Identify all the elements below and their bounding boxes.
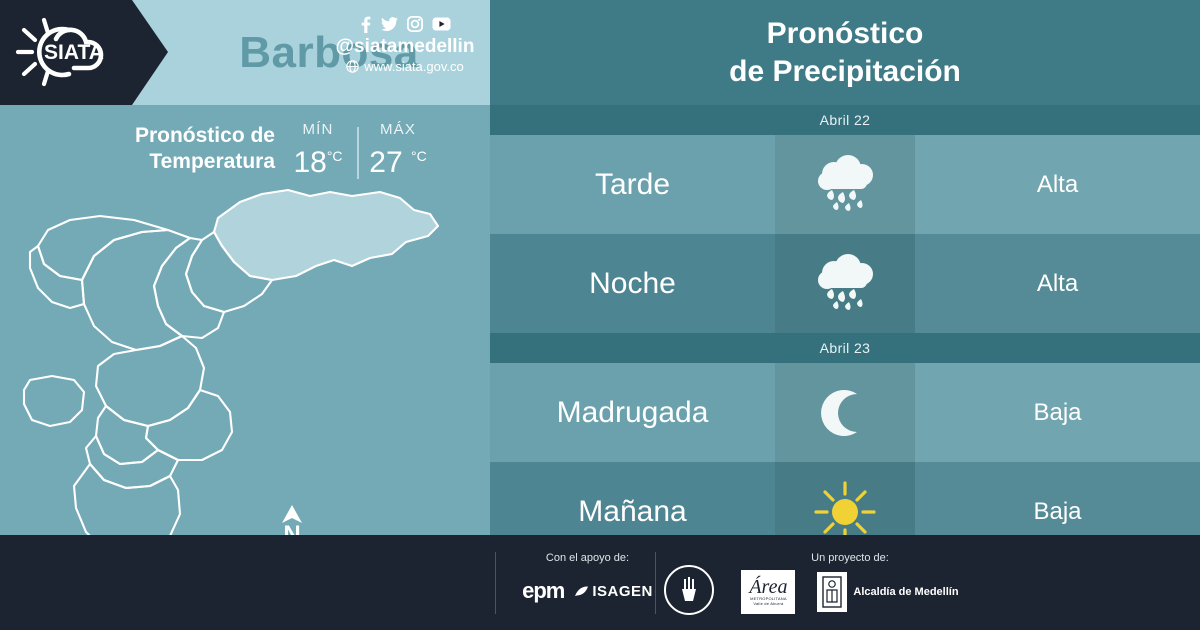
date-band-2: Abril 23: [490, 333, 1200, 363]
social-handle[interactable]: @siatamedellin: [330, 36, 480, 58]
project-caption: Un proyecto de:: [700, 552, 1000, 564]
temperature-min-value: 18: [293, 146, 326, 179]
area-logo-name: Área: [749, 579, 787, 596]
forecast-row: Madrugada Baja: [490, 363, 1200, 462]
precipitation-title-line2: de Precipitación: [729, 55, 961, 88]
aburra-valley-map: N: [0, 180, 490, 535]
map-region-barbosa: [214, 190, 438, 280]
support-caption: Con el apoyo de:: [505, 552, 670, 564]
temperature-min-unit: °C: [327, 148, 343, 164]
forecast-icon-cell: [775, 234, 915, 333]
alcaldia-logo: Alcaldía de Medellín: [817, 572, 958, 612]
right-panel: Pronóstico de Precipitación Abril 22 Tar…: [490, 0, 1200, 535]
area-metropolitana-logo: Área METROPOLITANA Valle de Aburrá: [741, 570, 795, 614]
map-region-west-edge-lower: [24, 376, 84, 426]
weather-forecast-infographic: SIATA Barbosa Pronóstico de Temperatura …: [0, 0, 1200, 630]
date-band-1: Abril 22: [490, 105, 1200, 135]
alcaldia-crest-glyph: [822, 576, 842, 608]
rain-cloud-icon: [810, 154, 880, 216]
temperature-max: MÁX 27 °C: [363, 121, 433, 180]
temperature-max-value: 27: [369, 146, 402, 179]
support-logos: epm ISAGEN: [505, 578, 670, 604]
siata-logo-text: SIATA: [44, 41, 104, 64]
map-region-sabaneta: [86, 436, 178, 488]
rain-cloud-icon: [810, 253, 880, 315]
forecast-probability: Baja: [915, 363, 1200, 462]
isagen-logo: ISAGEN: [574, 583, 653, 600]
support-block: Con el apoyo de: epm ISAGEN: [505, 552, 670, 604]
footer-social-block: @siatamedellin www.siata.gov.co: [330, 14, 480, 74]
temperature-title: Pronóstico de Temperatura: [85, 123, 275, 175]
forecast-period: Tarde: [490, 135, 775, 234]
footer-divider-1: [495, 552, 496, 614]
footer-divider-2: [655, 552, 656, 614]
precipitation-title-line1: Pronóstico: [767, 17, 924, 50]
map-region-medellin: [96, 336, 204, 426]
forecast-row: Tarde: [490, 135, 1200, 234]
forecast-probability: Alta: [915, 234, 1200, 333]
forecast-probability: Alta: [915, 135, 1200, 234]
temperature-max-unit: °C: [411, 148, 427, 164]
isagen-wordmark: ISAGEN: [592, 583, 653, 600]
temperature-min: MÍN 18°C: [283, 121, 353, 180]
map-region-bello: [82, 230, 190, 350]
facebook-icon[interactable]: [359, 16, 372, 33]
map-region-northwest: [38, 216, 168, 280]
moon-icon: [814, 382, 876, 444]
instagram-icon[interactable]: [407, 16, 423, 32]
social-icons: [330, 14, 480, 34]
forecast-row: Noche: [490, 234, 1200, 333]
precipitation-title: Pronóstico de Precipitación: [490, 0, 1200, 105]
map-region-caldas: [74, 464, 180, 535]
area-logo-sub2: Valle de Aburrá: [753, 601, 783, 606]
siata-sun-cloud-logo-icon: SIATA: [14, 16, 132, 88]
map-region-west-edge-upper: [30, 246, 84, 308]
project-block: Un proyecto de: Área METROPOLITANA Valle…: [700, 552, 1000, 614]
temperature-values: MÍN 18°C MÁX 27 °C: [283, 121, 433, 180]
temperature-min-value-group: 18°C: [293, 139, 342, 180]
youtube-icon[interactable]: [432, 17, 451, 31]
website-url[interactable]: www.siata.gov.co: [364, 59, 463, 74]
alcaldia-label: Alcaldía de Medellín: [853, 586, 958, 598]
temperature-title-line2: Temperatura: [149, 150, 275, 173]
website-line[interactable]: www.siata.gov.co: [330, 59, 480, 74]
temperature-min-label: MÍN: [302, 121, 333, 138]
temperature-max-label: MÁX: [380, 121, 416, 138]
map-svg: [0, 180, 490, 535]
project-logos: Área METROPOLITANA Valle de Aburrá Alcal…: [700, 570, 1000, 614]
globe-icon: [346, 60, 359, 73]
forecast-period: Noche: [490, 234, 775, 333]
forecast-period: Madrugada: [490, 363, 775, 462]
left-panel: SIATA Barbosa Pronóstico de Temperatura …: [0, 0, 490, 535]
epm-logo: epm: [522, 578, 564, 604]
forecast-icon-cell: [775, 135, 915, 234]
twitter-icon[interactable]: [381, 17, 398, 32]
sun-icon: [813, 480, 877, 544]
forecast-icon-cell: [775, 363, 915, 462]
temperature-title-line1: Pronóstico de: [135, 124, 275, 147]
alcaldia-shield-icon: [817, 572, 847, 612]
siata-logo-banner: SIATA: [0, 0, 168, 105]
isagen-leaf-icon: [574, 585, 589, 598]
temperature-max-value-group: 27 °C: [369, 139, 426, 180]
temperature-divider: [357, 127, 359, 179]
